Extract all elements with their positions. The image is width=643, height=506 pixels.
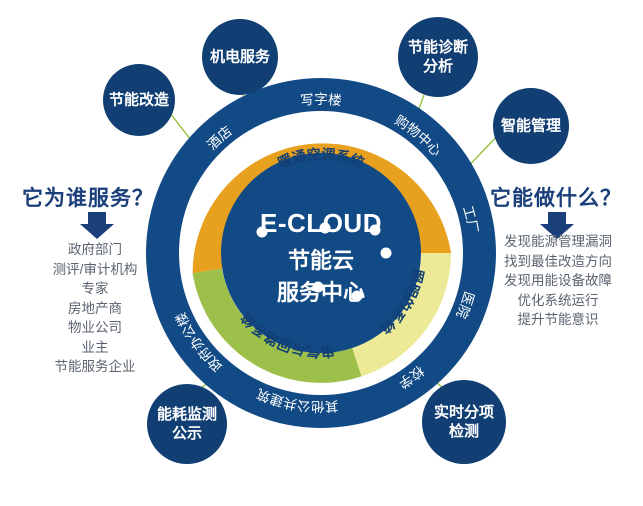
left-list-item: 专家 — [10, 279, 180, 299]
right-list-item: 发现用能设备故障 — [473, 271, 643, 291]
left-list-item: 业主 — [10, 338, 180, 358]
left-panel-list: 政府部门 测评/审计机构 专家 房地产商 物业公司 业主 节能服务企业 — [10, 240, 180, 377]
dot-smart-mgmt — [381, 248, 392, 259]
bubble-energy-monitor-disclosure[interactable] — [147, 384, 227, 464]
bubble-mechanical-electrical-service[interactable] — [202, 19, 278, 95]
right-list-item: 提升节能意识 — [473, 310, 643, 330]
left-list-item: 节能服务企业 — [10, 357, 180, 377]
center-line-service: 服务中心 — [277, 280, 365, 305]
left-arrow-icon — [80, 212, 114, 239]
right-panel-title: 它能做什么？ — [490, 182, 622, 212]
left-panel-title: 它为谁服务？ — [22, 182, 154, 212]
right-list-item: 优化系统运行 — [473, 291, 643, 311]
left-list-item: 物业公司 — [10, 318, 180, 338]
bubble-smart-management[interactable] — [493, 88, 569, 164]
infographic-canvas: 写字楼 购物中心 工厂 校学 医院 其他公共建筑 政府办公楼 酒店 — [0, 0, 643, 506]
right-list-item: 发现能源管理漏洞 — [473, 232, 643, 252]
bubble-energy-retrofit[interactable] — [103, 64, 175, 136]
right-list-item: 找到最佳改造方向 — [473, 252, 643, 272]
center-line-cloud-cn: 节能云 — [288, 248, 354, 273]
left-list-item: 测评/审计机构 — [10, 260, 180, 280]
left-list-item: 政府部门 — [10, 240, 180, 260]
left-list-item: 房地产商 — [10, 299, 180, 319]
bubble-realtime-submetering[interactable] — [422, 380, 506, 464]
outer-label-office-tower: 写字楼 — [300, 92, 343, 108]
right-panel-list: 发现能源管理漏洞 找到最佳改造方向 发现用能设备故障 优化系统运行 提升节能意识 — [473, 232, 643, 330]
center-line-ecloud: E-CLOUD — [260, 208, 382, 238]
bubble-energy-diagnosis-analysis[interactable] — [398, 17, 478, 97]
